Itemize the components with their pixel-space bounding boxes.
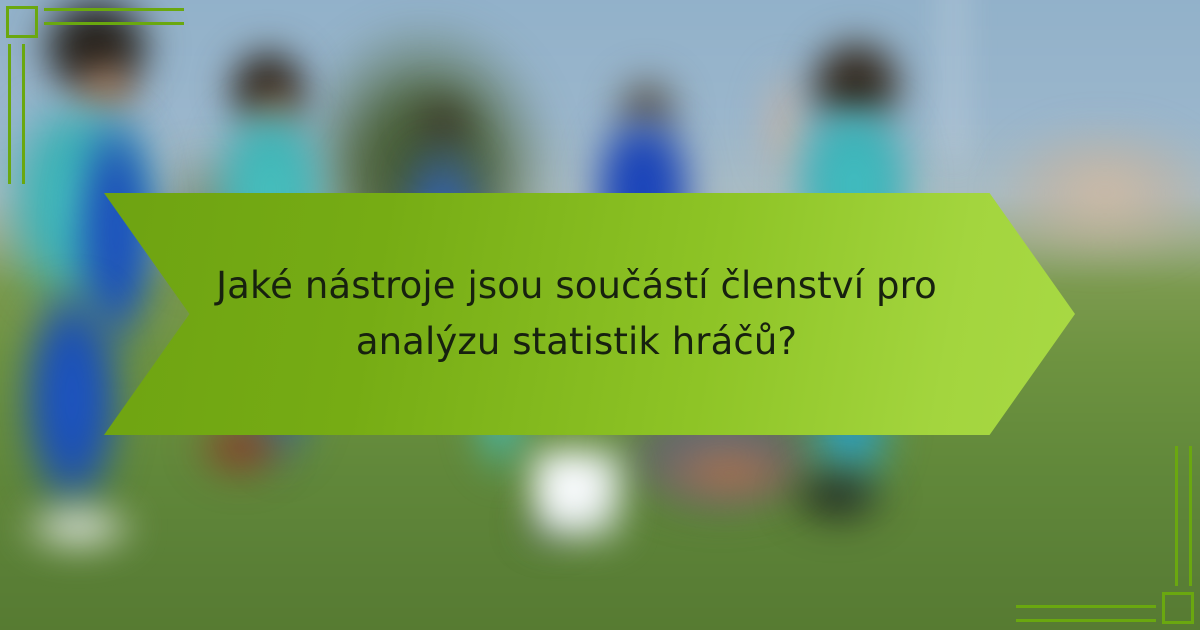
corner-ornament-top-left bbox=[0, 0, 180, 180]
photo-light-pole bbox=[948, 0, 959, 160]
headline-banner: Jaké nástroje jsou součástí členství pro… bbox=[104, 193, 1075, 435]
ornament-line-horizontal-inner bbox=[44, 22, 184, 25]
ornament-elbow bbox=[1175, 574, 1178, 586]
ornament-line-horizontal-outer bbox=[1016, 619, 1156, 622]
ornament-elbow bbox=[22, 44, 25, 56]
ornament-line-horizontal-inner bbox=[1016, 605, 1156, 608]
ornament-line-vertical-inner bbox=[1175, 446, 1178, 586]
ornament-square-icon bbox=[1162, 592, 1194, 624]
ornament-square-icon bbox=[6, 6, 38, 38]
ornament-line-vertical-inner bbox=[22, 44, 25, 184]
photo-coach-shoe bbox=[780, 460, 895, 532]
ornament-line-horizontal-outer bbox=[44, 8, 184, 11]
photo-player-1-shoes bbox=[16, 500, 141, 555]
photo-player-1-legs bbox=[12, 290, 132, 530]
corner-ornament-bottom-right bbox=[1020, 450, 1200, 630]
poster-canvas: Jaké nástroje jsou součástí členství pro… bbox=[0, 0, 1200, 630]
photo-sand-patch-right bbox=[1000, 125, 1200, 260]
ornament-line-vertical-outer bbox=[1189, 446, 1192, 586]
headline-text: Jaké nástroje jsou součástí členství pro… bbox=[210, 258, 970, 370]
photo-soccer-ball bbox=[532, 450, 624, 542]
ornament-line-vertical-outer bbox=[8, 44, 11, 184]
